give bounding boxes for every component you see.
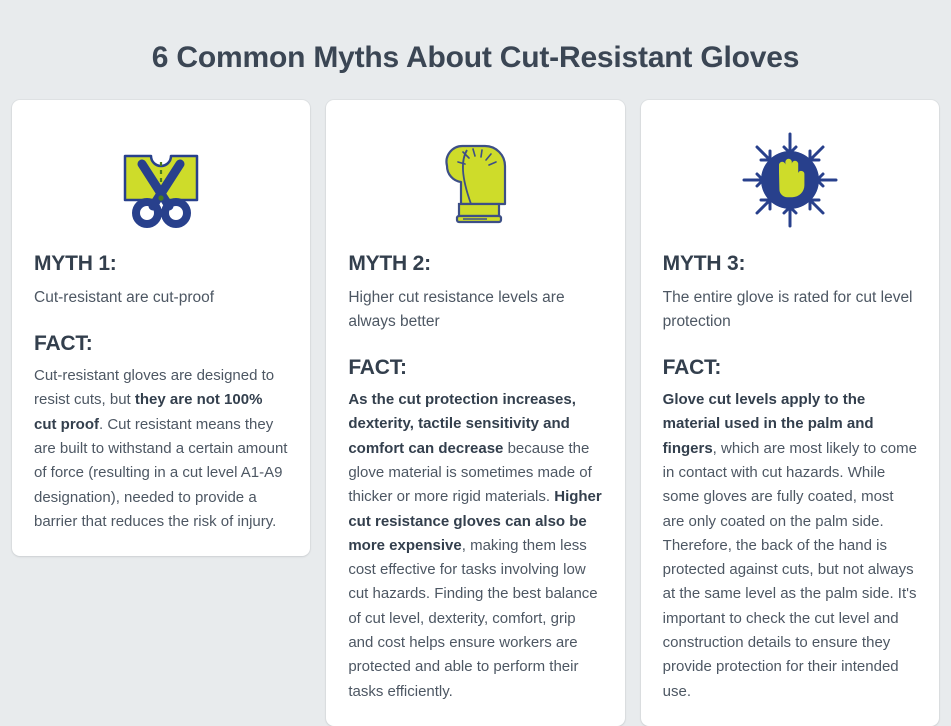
- protected-hand-in-circle-icon: [663, 124, 917, 236]
- page-title: 6 Common Myths About Cut-Resistant Glove…: [0, 0, 951, 76]
- scissors-cutting-fabric-icon: [34, 124, 288, 236]
- myth-label: MYTH 1:: [34, 252, 288, 276]
- myth-card-list: MYTH 1: Cut-resistant are cut-proof FACT…: [0, 76, 951, 726]
- boxing-glove-icon: [348, 124, 602, 236]
- myth-label: MYTH 2:: [348, 252, 602, 276]
- myth-statement: Cut-resistant are cut-proof: [34, 286, 288, 310]
- fact-text: Cut-resistant gloves are designed to res…: [34, 364, 288, 534]
- fact-text: As the cut protection increases, dexteri…: [348, 388, 602, 704]
- fact-label: FACT:: [663, 356, 917, 380]
- myth-statement: Higher cut resistance levels are always …: [348, 286, 602, 334]
- fact-text: Glove cut levels apply to the material u…: [663, 388, 917, 704]
- myth-card: MYTH 1: Cut-resistant are cut-proof FACT…: [12, 100, 310, 556]
- fact-label: FACT:: [348, 356, 602, 380]
- myth-statement: The entire glove is rated for cut level …: [663, 286, 917, 334]
- myth-card: MYTH 3: The entire glove is rated for cu…: [641, 100, 939, 726]
- myths-infographic-page: 6 Common Myths About Cut-Resistant Glove…: [0, 0, 951, 636]
- myth-card: MYTH 2: Higher cut resistance levels are…: [326, 100, 624, 726]
- fact-label: FACT:: [34, 332, 288, 356]
- myth-label: MYTH 3:: [663, 252, 917, 276]
